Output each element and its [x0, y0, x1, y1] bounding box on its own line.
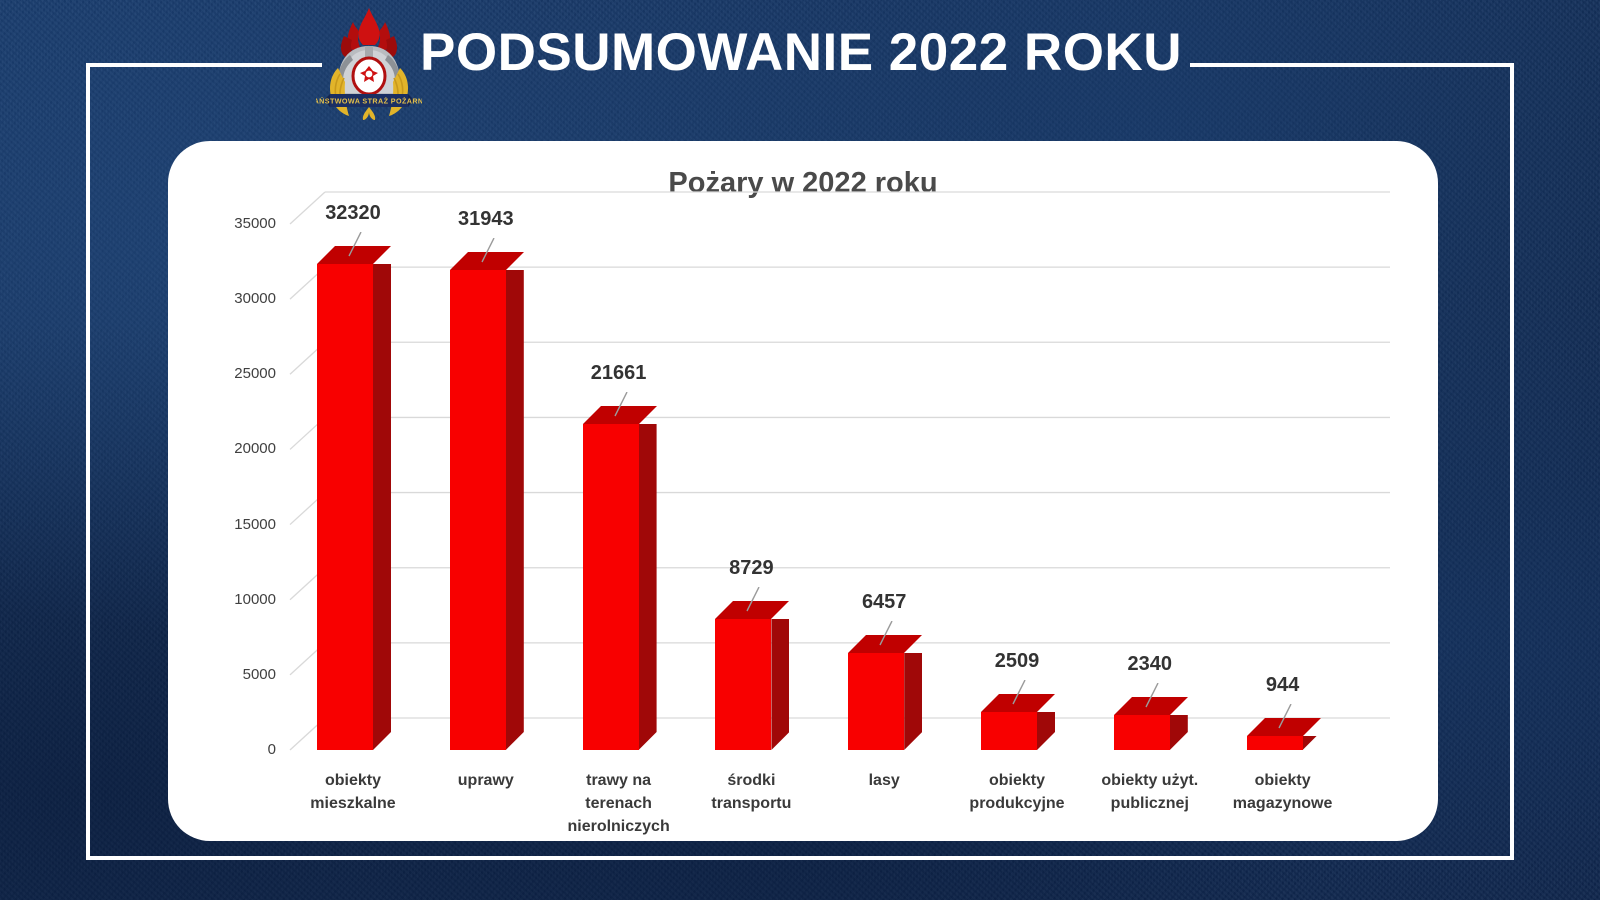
psp-emblem-icon: PAŃSTWOWA STRAŻ POŻARNA: [316, 6, 422, 122]
data-label-leader-line: [1144, 683, 1174, 709]
x-axis-category-line: środki: [689, 769, 813, 792]
svg-text:PAŃSTWOWA STRAŻ POŻARNA: PAŃSTWOWA STRAŻ POŻARNA: [316, 97, 422, 106]
data-label-leader-line: [745, 587, 775, 613]
bar-side-face: [1170, 715, 1188, 750]
frame-top-right-segment: [1190, 63, 1514, 67]
bar-column[interactable]: [583, 406, 657, 750]
bar-chart-plot: 05000100001500020000250003000035000 obie…: [168, 141, 1438, 841]
y-axis-tick-label: 10000: [196, 591, 276, 608]
bar-data-label: 2509: [955, 650, 1079, 673]
data-label-leader-line: [480, 238, 510, 264]
bar-data-label: 2340: [1088, 653, 1212, 676]
bar-column[interactable]: [317, 246, 391, 750]
x-axis-category-line: nierolniczych: [557, 815, 681, 838]
bar-column[interactable]: [715, 601, 789, 750]
frame-left-segment: [86, 63, 90, 860]
bar-front-face: [1114, 715, 1170, 750]
y-axis-tick-label: 35000: [196, 215, 276, 232]
bar-column[interactable]: [848, 635, 922, 750]
bar-front-face: [583, 424, 639, 750]
x-axis-category-line: trawy na: [557, 769, 681, 792]
bar-front-face: [1247, 736, 1303, 750]
x-axis-category-line: transportu: [689, 792, 813, 815]
frame-bottom-segment: [86, 856, 1514, 860]
bar-data-label: 31943: [424, 208, 548, 231]
x-axis-category-line: lasy: [822, 769, 946, 792]
bar-data-label: 8729: [689, 557, 813, 580]
x-axis-category-line: obiekty: [955, 769, 1079, 792]
bar-front-face: [450, 270, 506, 750]
data-label-leader-line: [1011, 680, 1041, 706]
bar-front-face: [715, 619, 771, 750]
bar-side-face: [506, 270, 524, 750]
bar-data-label: 944: [1221, 674, 1345, 697]
data-label-leader-line: [878, 621, 908, 647]
x-axis-category-line: terenach: [557, 792, 681, 815]
x-axis-category-label: trawy naterenachnierolniczych: [557, 769, 681, 838]
y-axis-tick-label: 25000: [196, 365, 276, 382]
page-title: PODSUMOWANIE 2022 ROKU: [420, 18, 1160, 88]
x-axis-category-line: obiekty: [1221, 769, 1345, 792]
bar-data-label: 6457: [822, 591, 946, 614]
x-axis-category-label: obiektymagazynowe: [1221, 769, 1345, 815]
y-axis-tick-label: 0: [196, 741, 276, 758]
bar-front-face: [317, 264, 373, 750]
x-axis-category-line: obiekty użyt.: [1088, 769, 1212, 792]
data-label-leader-line: [1277, 704, 1307, 730]
bar-side-face: [639, 424, 657, 750]
x-axis-category-line: obiekty: [291, 769, 415, 792]
y-axis-tick-label: 5000: [196, 666, 276, 683]
x-axis-category-label: obiektymieszkalne: [291, 769, 415, 815]
bar-front-face: [981, 712, 1037, 750]
bar-side-face: [373, 264, 391, 750]
x-axis-category-line: uprawy: [424, 769, 548, 792]
frame-top-left-segment: [86, 63, 322, 67]
frame-right-segment: [1510, 63, 1514, 860]
x-axis-category-label: lasy: [822, 769, 946, 792]
chart-card: Pożary w 2022 roku 050001000015000200002…: [168, 141, 1438, 841]
x-axis-category-line: mieszkalne: [291, 792, 415, 815]
y-axis-tick-label: 20000: [196, 440, 276, 457]
bar-front-face: [848, 653, 904, 750]
data-label-leader-line: [347, 232, 377, 258]
bar-side-face: [1037, 712, 1055, 750]
x-axis-category-label: obiektyprodukcyjne: [955, 769, 1079, 815]
bar-side-face: [904, 653, 922, 750]
bar-data-label: 21661: [557, 362, 681, 385]
y-axis-tick-label: 15000: [196, 516, 276, 533]
x-axis-category-line: produkcyjne: [955, 792, 1079, 815]
bar-side-face: [771, 619, 789, 750]
x-axis-category-line: publicznej: [1088, 792, 1212, 815]
y-axis-tick-label: 30000: [196, 290, 276, 307]
x-axis-category-line: magazynowe: [1221, 792, 1345, 815]
bar-data-label: 32320: [291, 202, 415, 225]
x-axis-category-label: środkitransportu: [689, 769, 813, 815]
bar-side-face: [1303, 736, 1321, 750]
x-axis-category-label: uprawy: [424, 769, 548, 792]
x-axis-category-label: obiekty użyt.publicznej: [1088, 769, 1212, 815]
bar-column[interactable]: [450, 252, 524, 750]
data-label-leader-line: [613, 392, 643, 418]
